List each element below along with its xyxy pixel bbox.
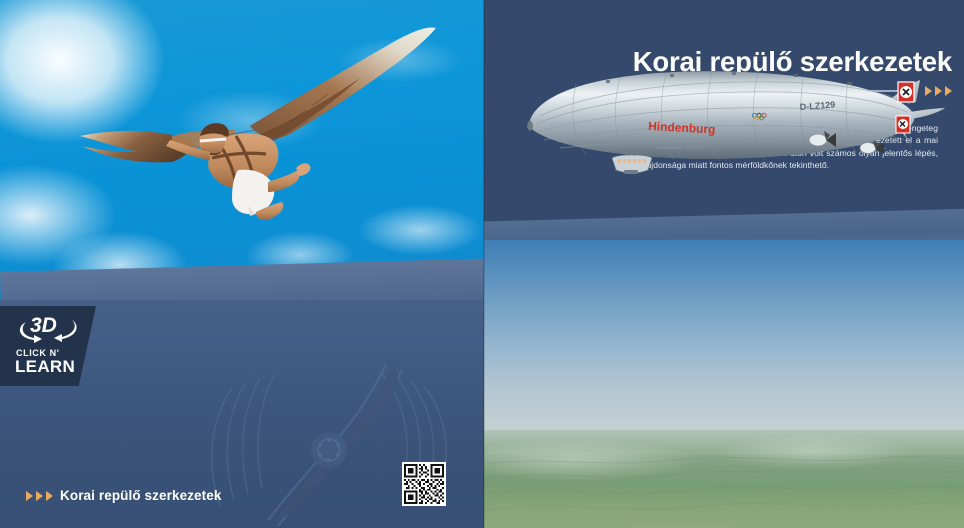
triangle-right-icon [945,86,952,96]
winged-man-illustration [60,18,460,248]
triangle-right-icon [46,491,53,501]
footer-title-group: Korai repülő szerkezetek [26,488,221,503]
triangle-right-icon [26,491,33,501]
control-car [612,155,652,174]
terrain-ridges [484,430,964,528]
3d-logo-icon: 3D [14,310,84,346]
footer-title-label: Korai repülő szerkezetek [60,488,221,503]
footer-arrows [26,491,53,501]
hindenburg-airship-illustration: Hindenburg D-LZ129 [500,58,945,188]
left-page-footer: Korai repülő szerkezetek [0,466,484,528]
logo-learn-label: LEARN [15,358,75,375]
sky-background-right [484,240,964,455]
page-spread: 3D CLICK N' LEARN [0,0,964,528]
triangle-right-icon [36,491,43,501]
left-page: 3D CLICK N' LEARN [0,0,484,528]
right-page: Korai repülő szerkezetek Az emberiséget … [484,0,964,528]
logo-3d-text: 3D [30,314,57,337]
